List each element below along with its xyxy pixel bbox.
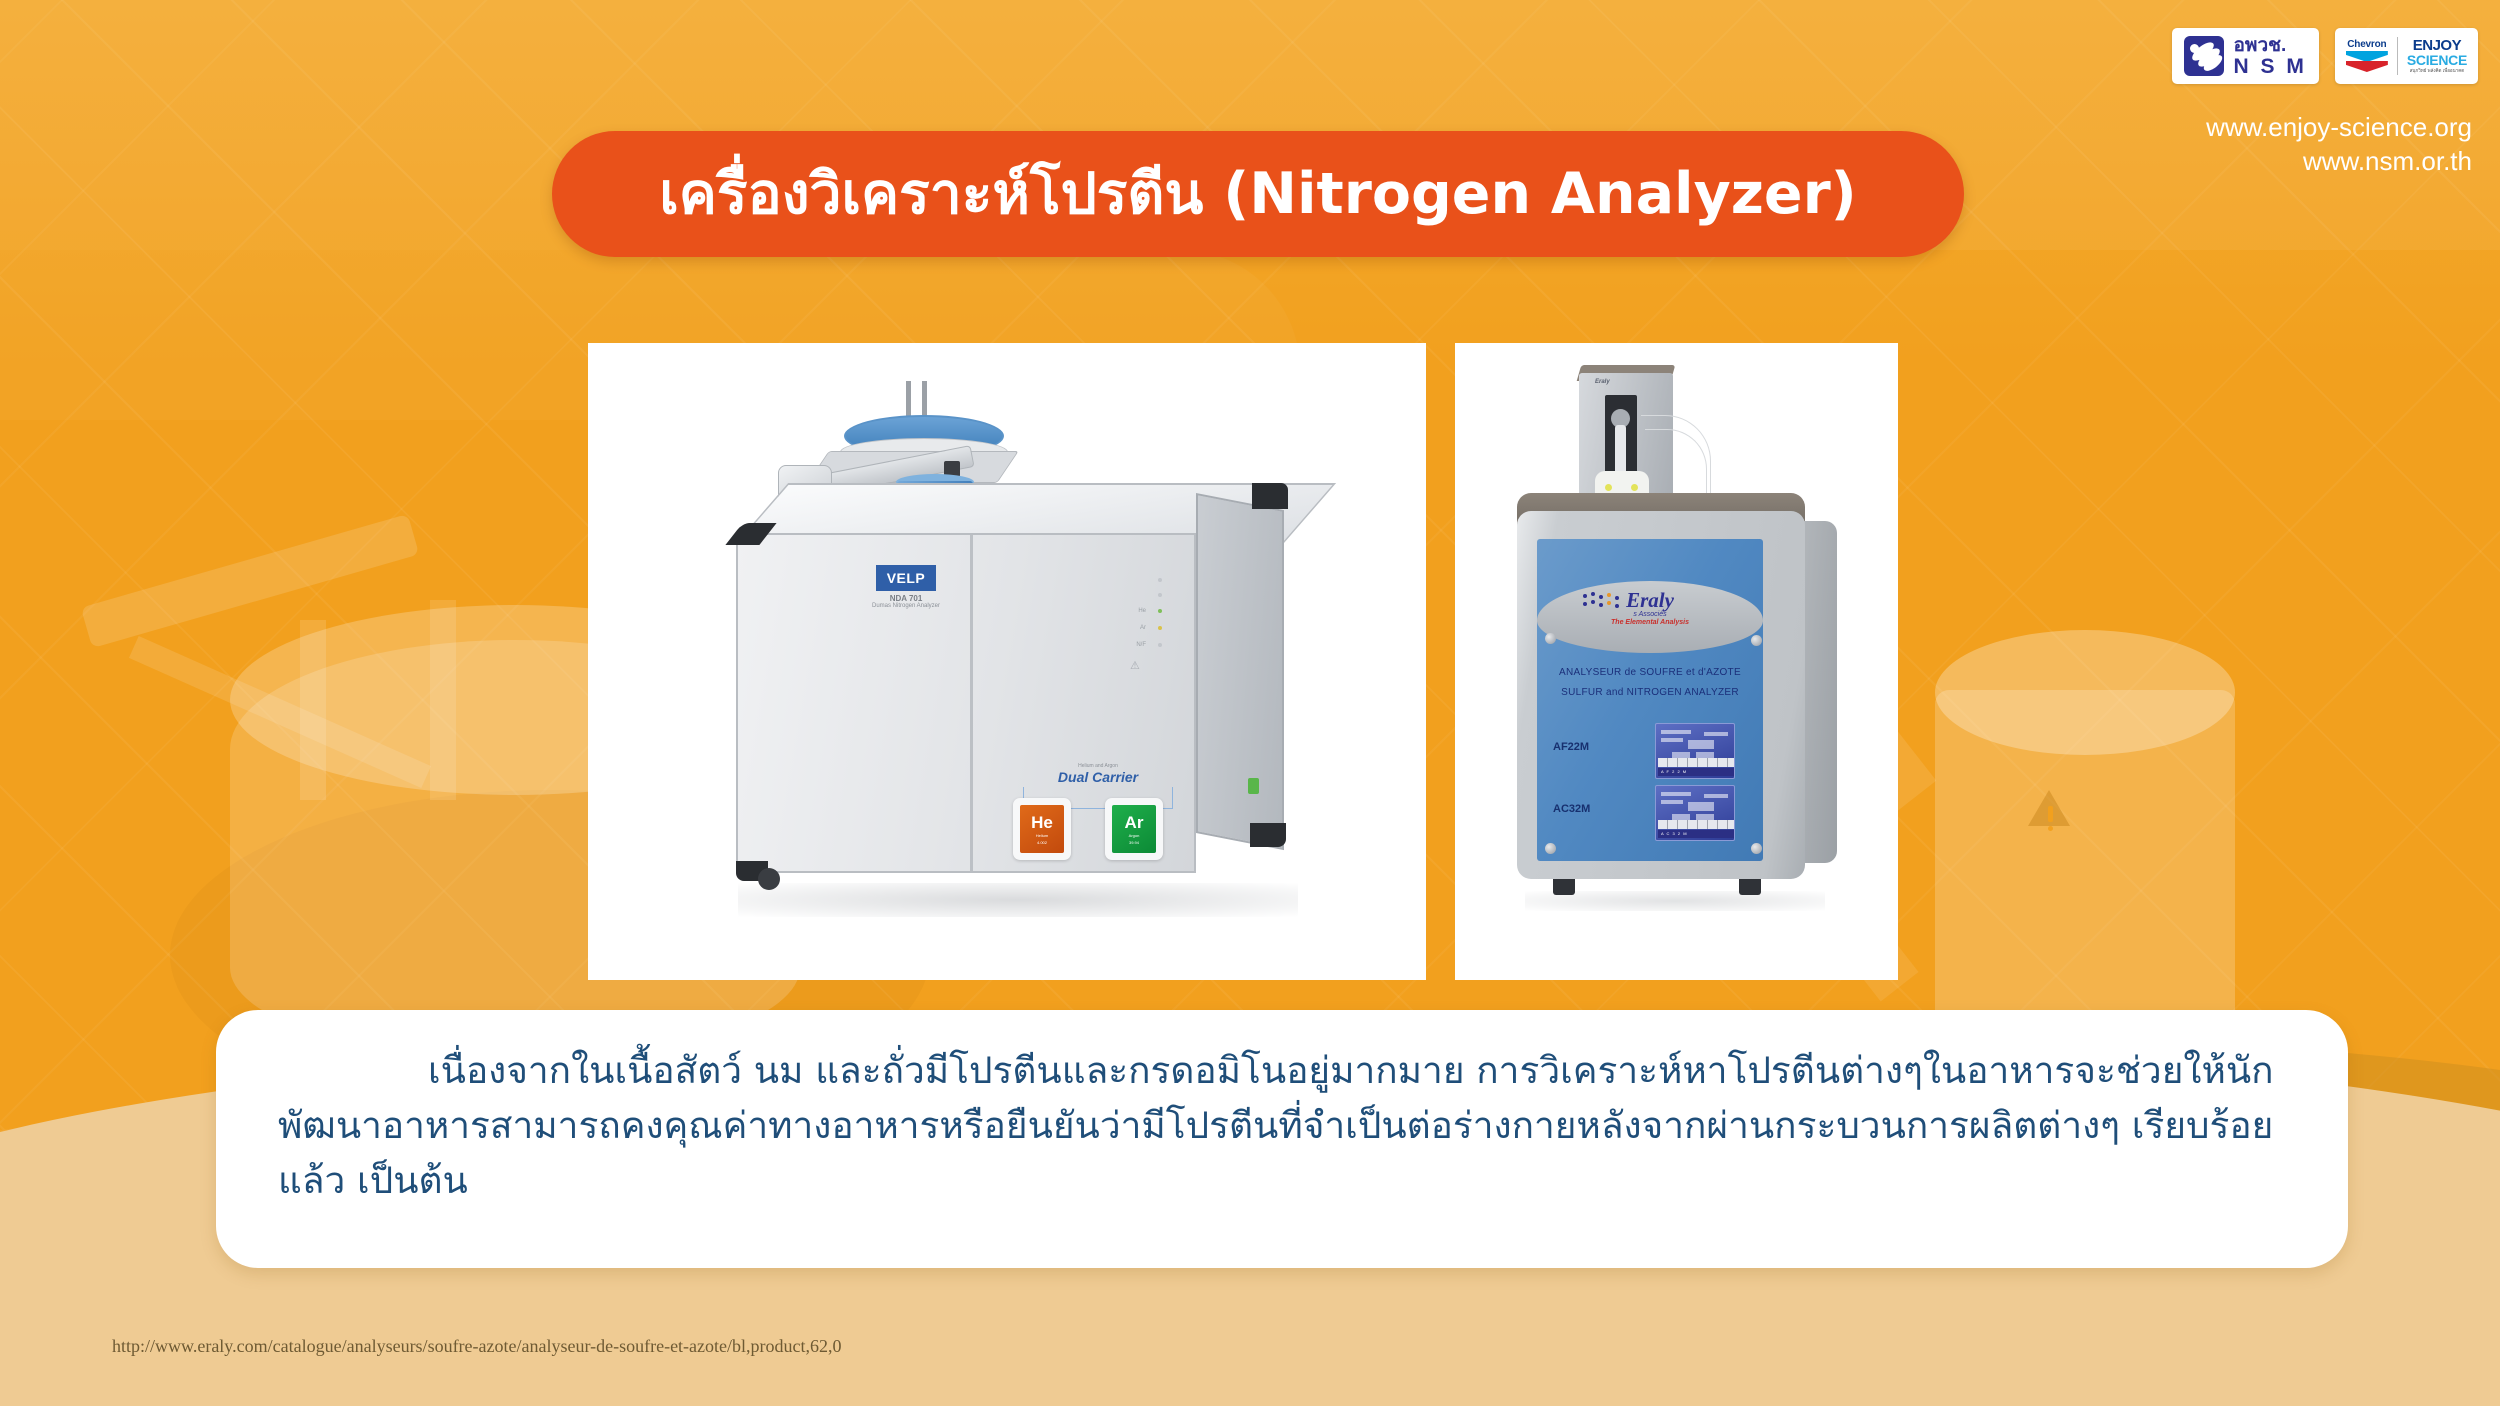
- velp-led-label-he: He: [1128, 608, 1146, 614]
- description-card: เนื่องจากในเนื้อสัตว์ นม และถั่วมีโปรตีน…: [216, 1010, 2348, 1268]
- eraly-module-label-af22m: AF22M: [1553, 741, 1589, 753]
- velp-led-label-nf: N/F: [1128, 642, 1146, 648]
- page-title: เครื่องวิเคราะห์โปรตีน (Nitrogen Analyze…: [659, 149, 1857, 239]
- url-nsm: www.nsm.or.th: [2206, 144, 2472, 178]
- velp-model-description: Dumas Nitrogen Analyzer: [850, 603, 962, 609]
- source-url: http://www.eraly.com/catalogue/analyseur…: [112, 1336, 842, 1357]
- velp-power-indicator: [1248, 778, 1259, 794]
- velp-brand-logo: VELP: [876, 565, 936, 591]
- velp-led-he: [1158, 609, 1162, 613]
- eraly-display-af22m-label: A F 2 2 M: [1658, 768, 1734, 776]
- eraly-module-label-ac32m: AC32M: [1553, 803, 1590, 815]
- slide-canvas: อพวช. N S M Chevron ENJOY SCIENCE สนุกวิ…: [0, 0, 2500, 1406]
- velp-led-nf: [1158, 643, 1162, 647]
- eraly-title-french: ANALYSEUR de SOUFRE et d'AZOTE: [1537, 667, 1763, 678]
- background-tank-top-right: [1935, 630, 2235, 755]
- title-banner: เครื่องวิเคราะห์โปรตีน (Nitrogen Analyze…: [552, 131, 1964, 257]
- velp-model-number: NDA 701: [850, 594, 962, 603]
- velp-nameplate: VELP NDA 701 Dumas Nitrogen Analyzer: [850, 565, 962, 629]
- nsm-emblem-icon: [2184, 36, 2224, 76]
- velp-argon-name: Argon: [1129, 833, 1140, 838]
- velp-warning-icon: ⚠: [1130, 659, 1162, 672]
- eraly-foot-left: [1553, 879, 1575, 895]
- velp-led-label-ar: Ar: [1128, 625, 1146, 631]
- warning-exclamation-icon: [2048, 806, 2053, 822]
- velp-caster-wheel: [758, 868, 780, 890]
- eraly-brand-tagline: The Elemental Analysis: [1537, 619, 1763, 626]
- header-urls: www.enjoy-science.org www.nsm.or.th: [2206, 110, 2472, 179]
- photo-panel-group: VELP VELP NDA 701 Dumas Nitrogen Analyze…: [588, 343, 1898, 980]
- warning-dot-icon: [2048, 826, 2053, 831]
- velp-gas-badge-group: He Helium 4.002 Ar Argon 39.94: [1013, 798, 1163, 860]
- velp-status-led-panel: He Ar N/F ⚠: [1128, 578, 1162, 672]
- chevron-hallmark-icon: [2346, 51, 2388, 73]
- nsm-logo-thai: อพวช.: [2234, 36, 2307, 55]
- photo-eraly-sulfur-nitrogen-analyzer: Eraly: [1455, 343, 1898, 980]
- eraly-display-ac32m-label: A C 3 2 M: [1658, 830, 1734, 838]
- chevron-enjoy-science-logo-card: Chevron ENJOY SCIENCE สนุกวิทย์ พลังคิด …: [2335, 28, 2478, 84]
- chevron-logo: Chevron: [2346, 39, 2388, 73]
- logo-divider: [2397, 37, 2398, 75]
- header-logo-group: อพวช. N S M Chevron ENJOY SCIENCE สนุกวิ…: [2172, 28, 2478, 84]
- eraly-brand-name: Eraly: [1537, 589, 1763, 611]
- eraly-display-af22m: A F 2 2 M: [1655, 723, 1735, 779]
- eraly-brand-sub: s Associés: [1537, 611, 1763, 618]
- nsm-logo-card: อพวช. N S M: [2172, 28, 2319, 84]
- velp-door-divider: [970, 535, 973, 871]
- eraly-title-english: SULFUR and NITROGEN ANALYZER: [1537, 687, 1763, 698]
- photo-velp-nitrogen-analyzer: VELP VELP NDA 701 Dumas Nitrogen Analyze…: [588, 343, 1426, 980]
- velp-helium-badge-frame: He Helium 4.002: [1013, 798, 1071, 860]
- chevron-wordmark: Chevron: [2347, 39, 2386, 50]
- eraly-display-ac32m: A C 3 2 M: [1655, 785, 1735, 841]
- velp-helium-mass: 4.002: [1037, 840, 1047, 845]
- nsm-logo-english: N S M: [2234, 56, 2307, 77]
- velp-helium-name: Helium: [1036, 833, 1048, 838]
- velp-cabinet-side: [1196, 493, 1284, 850]
- velp-helium-symbol: He: [1031, 814, 1053, 831]
- description-text: เนื่องจากในเนื้อสัตว์ นม และถั่วมีโปรตีน…: [278, 1044, 2286, 1208]
- velp-led-ar: [1158, 626, 1162, 630]
- velp-argon-mass: 39.94: [1129, 840, 1139, 845]
- enjoy-science-line2: SCIENCE: [2407, 53, 2467, 67]
- velp-argon-badge: Ar Argon 39.94: [1112, 805, 1156, 853]
- eraly-foot-right: [1739, 879, 1761, 895]
- eraly-brand-block: Eraly s Associés The Elemental Analysis: [1537, 589, 1763, 627]
- enjoy-science-tagline: สนุกวิทย์ พลังคิด เพื่ออนาคต: [2410, 69, 2464, 74]
- velp-dual-carrier-label: Dual Carrier: [1018, 769, 1178, 785]
- velp-argon-symbol: Ar: [1125, 814, 1144, 831]
- velp-argon-badge-frame: Ar Argon 39.94: [1105, 798, 1163, 860]
- eraly-module-brand: Eraly: [1595, 379, 1610, 385]
- velp-helium-badge: He Helium 4.002: [1020, 805, 1064, 853]
- url-enjoy-science: www.enjoy-science.org: [2206, 110, 2472, 144]
- enjoy-science-line1: ENJOY: [2413, 38, 2461, 53]
- enjoy-science-logo: ENJOY SCIENCE สนุกวิทย์ พลังคิด เพื่ออนา…: [2407, 38, 2467, 74]
